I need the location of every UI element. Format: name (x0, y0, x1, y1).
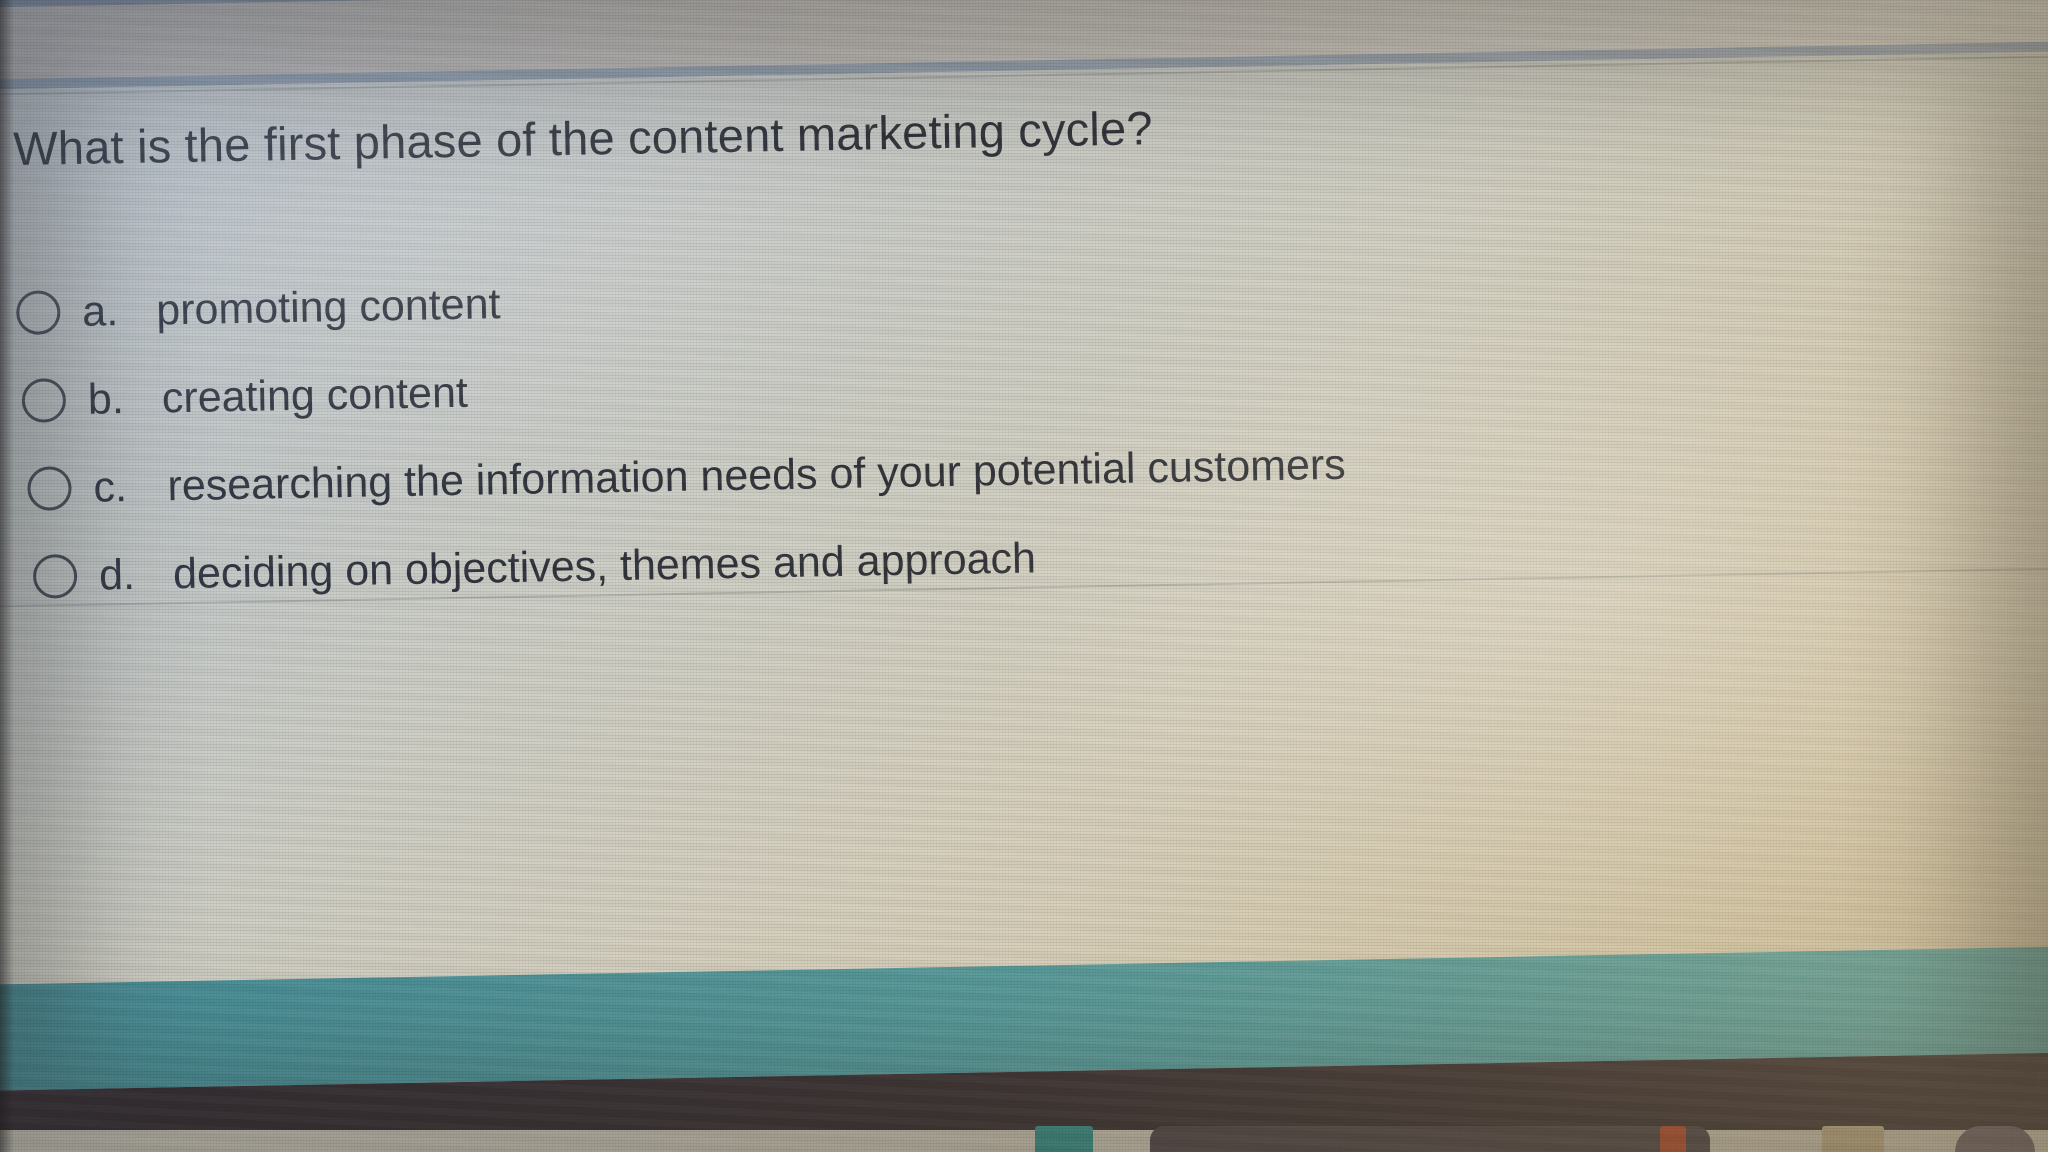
option-text-b: creating content (161, 368, 468, 423)
taskbar-panel[interactable] (1150, 1126, 1710, 1152)
answer-options-list: a. promoting content b. creating content… (15, 234, 1921, 621)
screen-content: What is the first phase of the content m… (0, 0, 2048, 1130)
option-text-c: researching the information needs of you… (167, 440, 1346, 511)
monitor-photo: What is the first phase of the content m… (0, 0, 2048, 1152)
option-letter-b: b. (87, 374, 162, 424)
taskbar-icon-grey[interactable] (1955, 1126, 2035, 1152)
radio-button-b[interactable] (22, 378, 67, 423)
question-text: What is the first phase of the content m… (13, 100, 1153, 176)
option-letter-a: a. (82, 286, 157, 336)
option-text-a: promoting content (156, 280, 501, 335)
radio-button-c[interactable] (27, 466, 72, 511)
radio-button-d[interactable] (33, 554, 78, 599)
radio-button-a[interactable] (16, 290, 61, 335)
taskbar-icon-teal[interactable] (1035, 1126, 1093, 1152)
option-letter-d: d. (99, 550, 174, 600)
quiz-content-area: What is the first phase of the content m… (0, 50, 2048, 991)
option-letter-c: c. (93, 462, 168, 512)
taskbar-icon-red[interactable] (1660, 1126, 1686, 1152)
monitor-screen-surface: What is the first phase of the content m… (0, 0, 2048, 1130)
taskbar-icon-tan[interactable] (1822, 1126, 1884, 1152)
